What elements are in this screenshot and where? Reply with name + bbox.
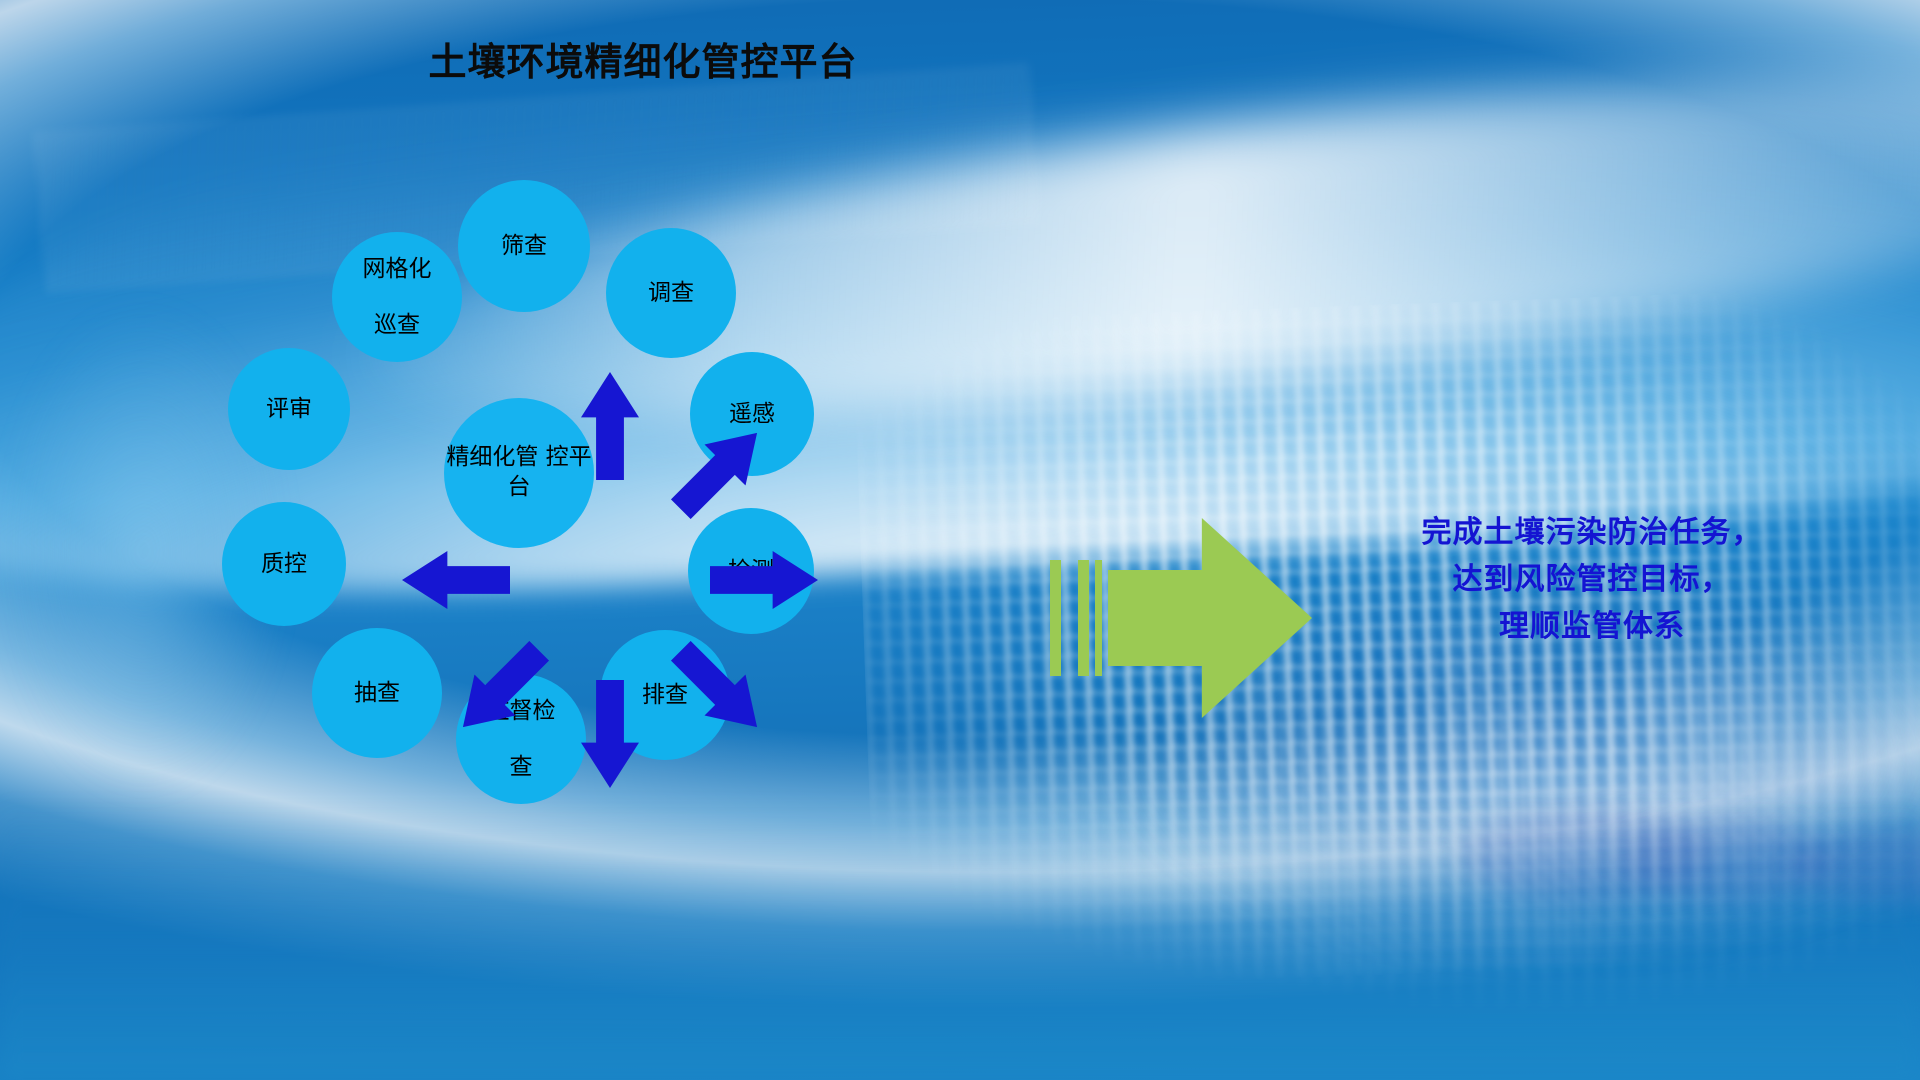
- node-screening[interactable]: 筛查: [458, 180, 590, 312]
- green-accent-bar-3: [1095, 560, 1102, 676]
- green-accent-bar-1: [1050, 560, 1061, 676]
- slide-canvas: 土壤环境精细化管控平台 精细化管 控平台 网格化 巡查 筛查: [0, 0, 1920, 1080]
- hub-label-line1: 精细化管: [446, 444, 538, 470]
- node-label: 调查: [640, 279, 702, 307]
- green-arrow-icon: [1108, 518, 1312, 718]
- node-remote-sensing[interactable]: 遥感: [690, 352, 814, 476]
- node-label-line2: 巡查: [355, 311, 440, 339]
- hub-node-platform[interactable]: 精细化管 控平台: [444, 398, 594, 548]
- outcome-line-2: 达到风险管控目标，: [1302, 557, 1882, 604]
- node-label: 质控: [253, 550, 315, 578]
- node-grid-patrol[interactable]: 网格化 巡查: [332, 232, 462, 362]
- node-survey[interactable]: 调查: [606, 228, 736, 358]
- node-review[interactable]: 评审: [228, 348, 350, 470]
- node-label: 抽查: [346, 679, 408, 707]
- outcome-group: 完成土壤污染防治任务， 达到风险管控目标， 理顺监管体系: [1040, 510, 1900, 730]
- node-quality-control[interactable]: 质控: [222, 502, 346, 626]
- outcome-line-1: 完成土壤污染防治任务，: [1302, 510, 1882, 557]
- green-accent-bar-2: [1078, 560, 1089, 676]
- outcome-line-3: 理顺监管体系: [1302, 604, 1882, 651]
- node-label: 排查: [634, 681, 696, 709]
- node-label: 评审: [258, 395, 320, 423]
- node-label: 筛查: [493, 232, 555, 260]
- page-title: 土壤环境精细化管控平台: [0, 40, 1286, 86]
- node-label-line2: 查: [479, 753, 564, 781]
- node-spot-check[interactable]: 抽查: [312, 628, 442, 758]
- radial-cycle-diagram: 精细化管 控平台 网格化 巡查 筛查 调查 遥感 检测 排查: [250, 180, 970, 980]
- node-label: 遥感: [721, 400, 783, 428]
- node-label-line1: 网格化: [355, 255, 440, 283]
- outcome-text-block: 完成土壤污染防治任务， 达到风险管控目标， 理顺监管体系: [1302, 510, 1882, 650]
